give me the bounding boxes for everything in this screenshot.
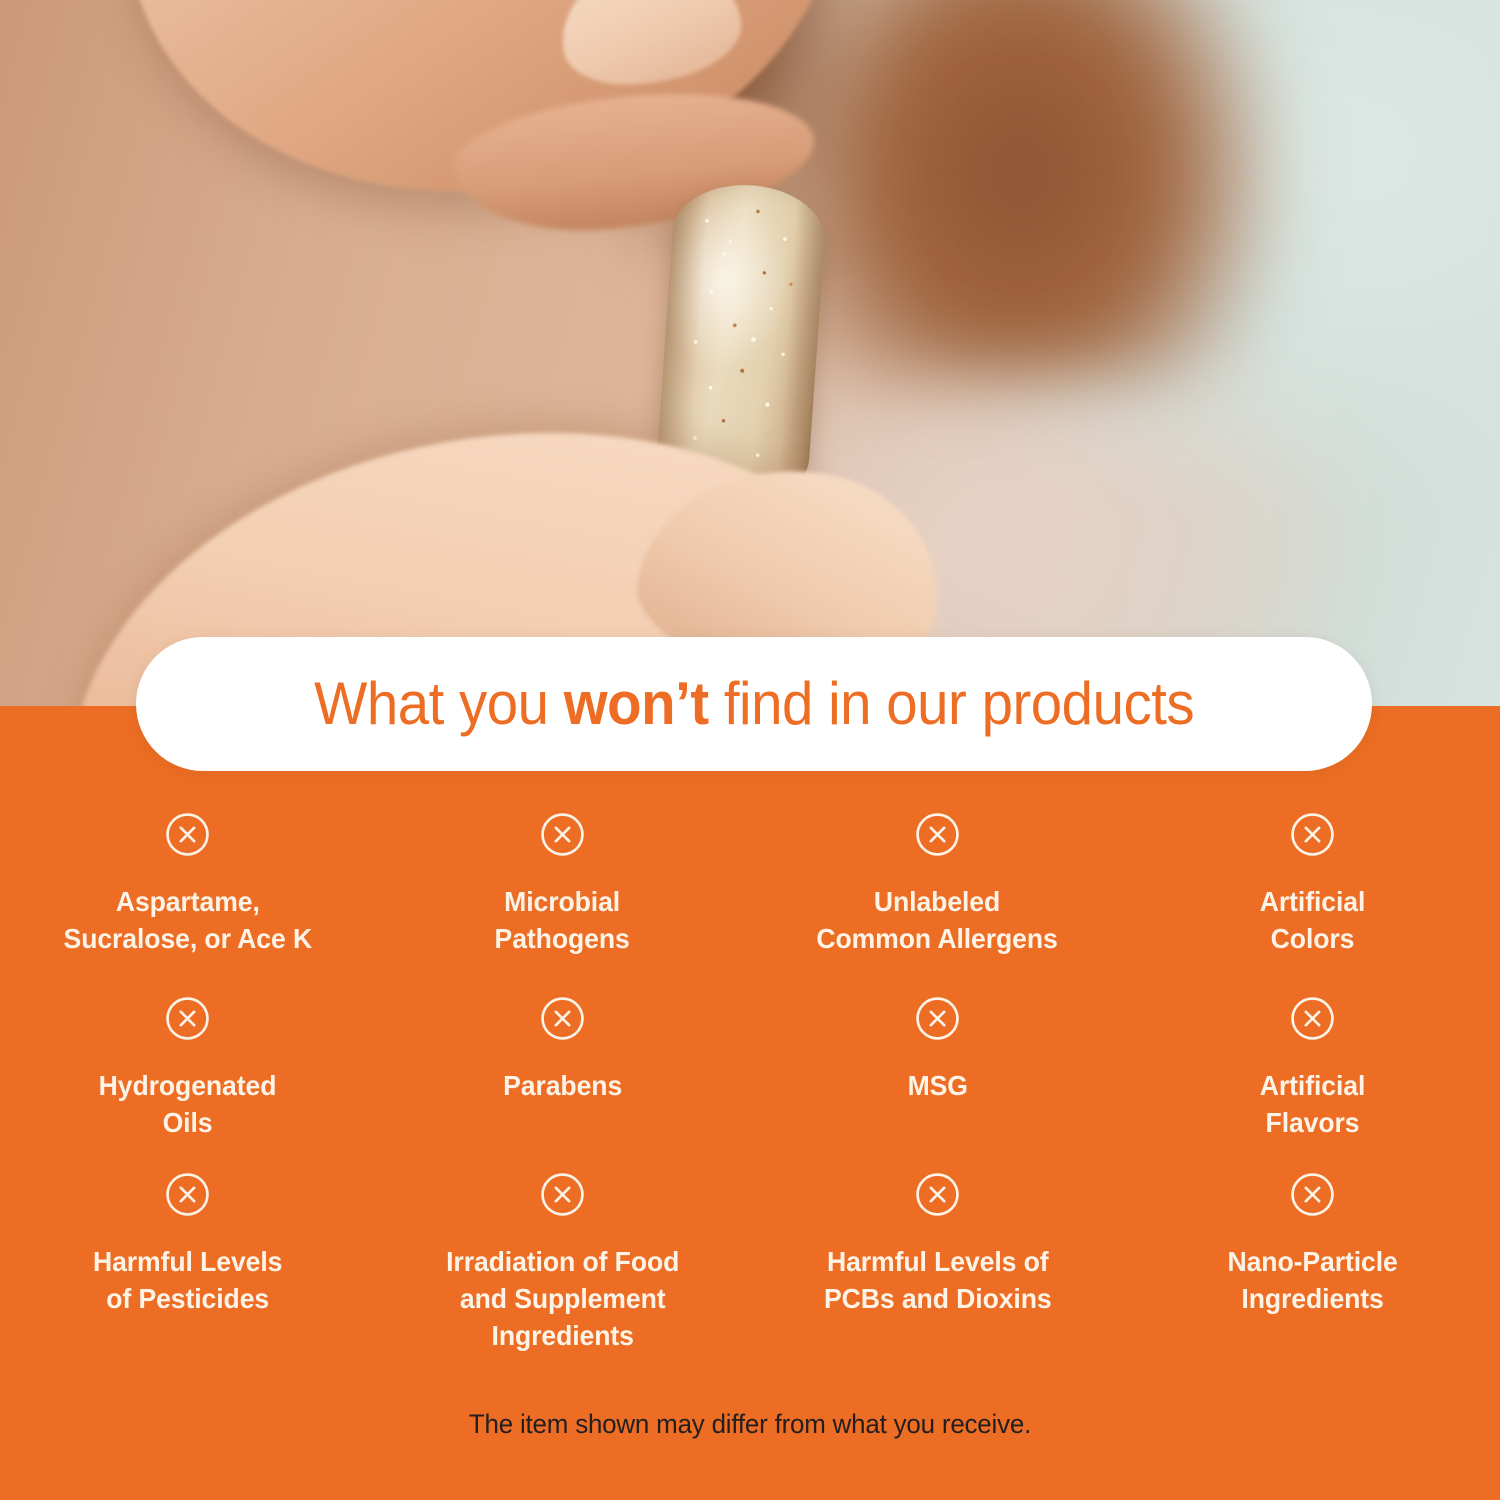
headline-pill: What you won’t find in our products — [136, 637, 1372, 771]
claim-item: MSG — [750, 996, 1125, 1141]
circle-x-icon — [1290, 1172, 1335, 1217]
disclaimer-text: The item shown may differ from what you … — [30, 1409, 1470, 1440]
circle-x-icon — [1290, 996, 1335, 1041]
claim-label: Artificial Flavors — [1260, 1067, 1365, 1141]
claim-label: Microbial Pathogens — [495, 883, 630, 957]
claim-item: Nano-Particle Ingredients — [1125, 1172, 1500, 1355]
circle-x-icon — [915, 812, 960, 857]
claim-label: Hydrogenated Oils — [99, 1067, 277, 1141]
claims-grid-row-1: Aspartame, Sucralose, or Ace K Microbial… — [0, 812, 1500, 957]
claim-item: Parabens — [375, 996, 750, 1141]
circle-x-icon — [915, 996, 960, 1041]
claim-label: Aspartame, Sucralose, or Ace K — [63, 883, 312, 957]
claim-label: Unlabeled Common Allergens — [817, 883, 1058, 957]
claim-item: Artificial Flavors — [1125, 996, 1500, 1141]
claim-item: Hydrogenated Oils — [0, 996, 375, 1141]
circle-x-icon — [540, 1172, 585, 1217]
circle-x-icon — [540, 812, 585, 857]
claim-label: Artificial Colors — [1260, 883, 1365, 957]
claim-item: Harmful Levels of PCBs and Dioxins — [750, 1172, 1125, 1355]
circle-x-icon — [1290, 812, 1335, 857]
headline-emphasis: won’t — [564, 670, 709, 737]
circle-x-icon — [165, 812, 210, 857]
claim-label: Irradiation of Food and Supplement Ingre… — [446, 1243, 679, 1355]
product-claims-graphic: What you won’t find in our products Aspa… — [0, 0, 1500, 1500]
product-photo — [0, 0, 1500, 712]
page-title: What you won’t find in our products — [314, 674, 1194, 734]
claim-item: Microbial Pathogens — [375, 812, 750, 957]
claim-label: Harmful Levels of Pesticides — [93, 1243, 282, 1317]
claim-label: Harmful Levels of PCBs and Dioxins — [824, 1243, 1052, 1317]
claim-item: Artificial Colors — [1125, 812, 1500, 957]
circle-x-icon — [165, 1172, 210, 1217]
claims-grid-row-2: Hydrogenated Oils Parabens MSG — [0, 996, 1500, 1141]
circle-x-icon — [165, 996, 210, 1041]
claim-label: Parabens — [503, 1067, 622, 1104]
claim-item: Harmful Levels of Pesticides — [0, 1172, 375, 1355]
circle-x-icon — [540, 996, 585, 1041]
claim-item: Unlabeled Common Allergens — [750, 812, 1125, 957]
claim-item: Irradiation of Food and Supplement Ingre… — [375, 1172, 750, 1355]
claim-label: Nano-Particle Ingredients — [1227, 1243, 1397, 1317]
claim-item: Aspartame, Sucralose, or Ace K — [0, 812, 375, 957]
claim-label: MSG — [907, 1067, 967, 1104]
headline-part-1: What you — [314, 670, 564, 737]
headline-part-2: find in our products — [709, 670, 1194, 737]
claims-grid-row-3: Harmful Levels of Pesticides Irradiation… — [0, 1172, 1500, 1355]
circle-x-icon — [915, 1172, 960, 1217]
